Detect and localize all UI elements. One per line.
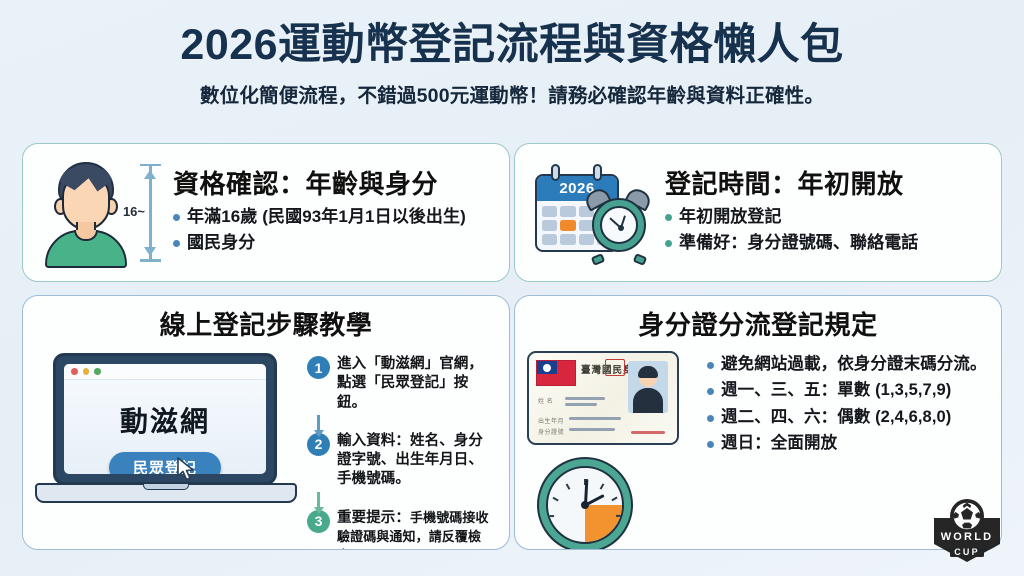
list-item: 週一、三、五：單數 (1,3,5,7,9) (707, 379, 989, 402)
step-text: 重要提示： (337, 510, 410, 526)
watermark-line1: WORLD (941, 531, 994, 543)
id-field-label: 姓 名 (538, 396, 553, 405)
list-item: 2 輸入資料：姓名、身分證字號、出生年月日、手機號碼。 (307, 432, 497, 490)
public-registration-button[interactable]: 民眾登記 (109, 452, 221, 474)
step-text: 進入「動滋網」官網，點選「民眾登記」按鈕。 (337, 355, 497, 413)
step-arrow-icon (307, 415, 330, 431)
list-item: 年初開放登記 (665, 205, 991, 230)
laptop-illustration: 動滋網 民眾登記 (35, 347, 303, 521)
card-id-rules-heading: 身分證分流登記規定 (527, 305, 989, 342)
bullet-dot-icon (665, 240, 672, 247)
step-number: 1 (307, 356, 330, 379)
bullet-text: 週日：全面開放 (721, 432, 837, 455)
list-item: 避免網站過載，依身分證末碼分流。 (707, 353, 989, 376)
card-schedule-bullets: 年初開放登記 準備好：身分證號碼、聯絡電話 (665, 205, 991, 256)
watermark-line2: CUP (954, 547, 980, 557)
bullet-dot-icon (665, 214, 672, 221)
list-item: 3 重要提示：手機號碼接收驗證碼與通知，請反覆檢查！ (307, 509, 497, 550)
calendar-alarm-icon: 2026 (529, 154, 661, 272)
window-close-dot-icon (71, 368, 78, 375)
card-eligibility-heading: 資格確認：年齡與身分 (173, 169, 499, 200)
id-photo (628, 361, 668, 413)
header: 2026運動幣登記流程與資格懶人包 數位化簡便流程，不錯過500元運動幣！請務必… (0, 0, 1024, 108)
id-field-label: 身分證號 (538, 427, 564, 436)
page-subtitle: 數位化簡便流程，不錯過500元運動幣！請務必確認年齡與資料正確性。 (0, 79, 1024, 108)
bullet-text: 週一、三、五：單數 (1,3,5,7,9) (721, 379, 951, 402)
window-maximize-dot-icon (94, 368, 101, 375)
cursor-icon (177, 457, 195, 481)
height-label: 16~ (101, 204, 145, 219)
steps-list: 1 進入「動滋網」官網，點選「民眾登記」按鈕。 2 輸入資料：姓名、身分證字號、… (303, 347, 497, 550)
person-height-icon: 16~ (37, 154, 169, 272)
bullet-text: 國民身分 (187, 231, 255, 256)
card-steps-heading: 線上登記步驟教學 (35, 305, 497, 342)
list-item: 週日：全面開放 (707, 432, 989, 455)
card-eligibility: 16~ 資格確認：年齡與身分 年滿16歲 (民國93年1月1日以後出生) 國民身… (22, 143, 510, 282)
list-item: 準備好：身分證號碼、聯絡電話 (665, 231, 991, 256)
id-stamp-icon (605, 359, 625, 376)
watermark-logo: WORLD CUP (924, 496, 1010, 568)
bullet-dot-icon (173, 214, 180, 221)
page-title: 2026運動幣登記流程與資格懶人包 (0, 22, 1024, 68)
bullet-dot-icon (707, 362, 714, 369)
card-schedule: 2026 (514, 143, 1002, 282)
bullet-text: 週二、四、六：偶數 (2,4,6,8,0) (721, 406, 951, 429)
card-eligibility-bullets: 年滿16歲 (民國93年1月1日以後出生) 國民身分 (173, 205, 499, 256)
window-minimize-dot-icon (83, 368, 90, 375)
clock-icon (537, 457, 633, 550)
id-card-icon: 臺灣國民身 姓 名 出生年月 身分證號 (527, 351, 679, 445)
laptop-screen: 動滋網 民眾登記 (64, 364, 266, 474)
site-brand: 動滋網 (64, 400, 266, 440)
list-item: 年滿16歲 (民國93年1月1日以後出生) (173, 205, 499, 230)
bullet-text: 年初開放登記 (679, 205, 782, 230)
list-item: 國民身分 (173, 231, 499, 256)
bullet-text: 避免網站過載，依身分證末碼分流。 (721, 353, 987, 376)
id-field-label: 出生年月 (538, 416, 564, 425)
height-arrow-icon: 16~ (134, 162, 166, 264)
card-schedule-heading: 登記時間：年初開放 (665, 169, 991, 200)
card-grid: 16~ 資格確認：年齡與身分 年滿16歲 (民國93年1月1日以後出生) 國民身… (22, 143, 1002, 550)
step-arrow-icon (307, 492, 330, 508)
bullet-dot-icon (707, 441, 714, 448)
bullet-text: 準備好：身分證號碼、聯絡電話 (679, 231, 918, 256)
list-item: 1 進入「動滋網」官網，點選「民眾登記」按鈕。 (307, 355, 497, 413)
step-text: 輸入資料：姓名、身分證字號、出生年月日、手機號碼。 (337, 432, 497, 490)
taiwan-flag-icon (536, 360, 576, 386)
bullet-dot-icon (707, 388, 714, 395)
list-item: 週二、四、六：偶數 (2,4,6,8,0) (707, 406, 989, 429)
id-card-illustration: 臺灣國民身 姓 名 出生年月 身分證號 (527, 347, 699, 550)
step-text-group: 重要提示：手機號碼接收驗證碼與通知，請反覆檢查！ (337, 509, 497, 550)
browser-titlebar (64, 364, 266, 380)
card-id-rules-bullets: 避免網站過載，依身分證末碼分流。 週一、三、五：單數 (1,3,5,7,9) 週… (699, 347, 989, 456)
alarm-clock-icon (583, 188, 655, 264)
bullet-dot-icon (173, 240, 180, 247)
card-steps: 線上登記步驟教學 動滋網 民眾登記 (22, 295, 510, 550)
bullet-dot-icon (707, 415, 714, 422)
bullet-text: 年滿16歲 (民國93年1月1日以後出生) (187, 205, 466, 230)
